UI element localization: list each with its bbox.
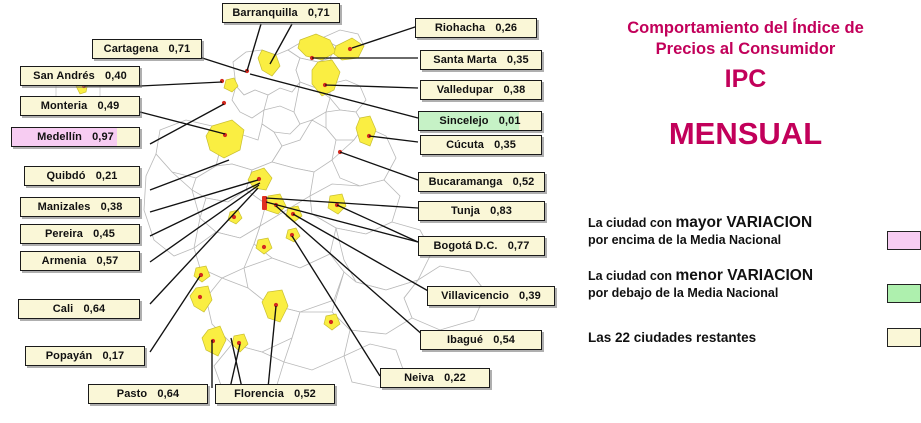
- callout-riohacha[interactable]: Riohacha 0,26: [415, 18, 537, 38]
- legend-highest-line1: La ciudad con mayor VARIACION: [588, 214, 921, 232]
- callout-value: 0,26: [495, 22, 517, 34]
- callout-valledupar[interactable]: Valledupar 0,38: [420, 80, 542, 100]
- callout-neiva[interactable]: Neiva 0,22: [380, 368, 490, 388]
- callout-cucuta[interactable]: Cúcuta 0,35: [420, 135, 542, 155]
- callout-pereira[interactable]: Pereira 0,45: [20, 224, 140, 244]
- title-acronym: IPC: [570, 62, 921, 96]
- callout-label: Pasto: [117, 388, 147, 400]
- callout-villavicencio[interactable]: Villavicencio 0,39: [427, 286, 555, 306]
- legend-lowest-line2: por debajo de la Media Nacional: [588, 285, 921, 302]
- callout-santa-marta[interactable]: Santa Marta 0,35: [420, 50, 542, 70]
- callout-value: 0,71: [169, 43, 191, 55]
- callout-cali[interactable]: Cali 0,64: [18, 299, 140, 319]
- callout-label: Popayán: [46, 350, 93, 362]
- legend-remaining-label: Las 22 ciudades restantes: [588, 328, 921, 347]
- callout-bogota[interactable]: Bogotá D.C. 0,77: [418, 236, 545, 256]
- legend-row-remaining: Las 22 ciudades restantes: [588, 328, 921, 347]
- callout-bucaramanga[interactable]: Bucaramanga 0,52: [418, 172, 545, 192]
- callout-label: Valledupar: [437, 84, 494, 96]
- legend-row-lowest: La ciudad con menor VARIACION por debajo…: [588, 267, 921, 302]
- callout-label: Cali: [53, 303, 74, 315]
- callout-value: 0,39: [519, 290, 541, 302]
- title-block: Comportamiento del Índice de Precios al …: [570, 18, 921, 154]
- callout-value: 0,38: [101, 201, 123, 213]
- ipc-map-infographic: Barranquilla 0,71 Cartagena 0,71 San And…: [0, 0, 921, 423]
- callout-barranquilla[interactable]: Barranquilla 0,71: [222, 3, 340, 23]
- callout-label: Villavicencio: [441, 290, 509, 302]
- legend-highest-line2: por encima de la Media Nacional: [588, 232, 921, 249]
- callout-manizales[interactable]: Manizales 0,38: [20, 197, 140, 217]
- callout-label: Riohacha: [435, 22, 485, 34]
- legend-lowest-emphasis: menor VARIACION: [676, 267, 814, 284]
- callout-value: 0,71: [308, 7, 330, 19]
- legend-lowest-line1: La ciudad con menor VARIACION: [588, 267, 921, 285]
- callout-label: Ibagué: [447, 334, 483, 346]
- callout-value: 0,52: [513, 176, 535, 188]
- callout-value: 0,83: [490, 205, 512, 217]
- title-period: MENSUAL: [570, 114, 921, 154]
- callout-cartagena[interactable]: Cartagena 0,71: [92, 39, 202, 59]
- callout-value: 0,21: [96, 170, 118, 182]
- callout-label: Sincelejo: [439, 115, 488, 127]
- callout-value: 0,40: [105, 70, 127, 82]
- callout-label: Florencia: [234, 388, 284, 400]
- callout-pasto[interactable]: Pasto 0,64: [88, 384, 208, 404]
- title-line-1a: Comportamiento del Índice de: [570, 18, 921, 39]
- legend: La ciudad con mayor VARIACION por encima…: [588, 214, 921, 360]
- callout-popayan[interactable]: Popayán 0,17: [25, 346, 145, 366]
- callout-monteria[interactable]: Monteria 0,49: [20, 96, 140, 116]
- cream-swatch: [887, 328, 921, 347]
- callout-label: Cúcuta: [446, 139, 484, 151]
- callout-label: Neiva: [404, 372, 434, 384]
- callout-tunja[interactable]: Tunja 0,83: [418, 201, 545, 221]
- callout-value: 0,35: [507, 54, 529, 66]
- callout-value: 0,22: [444, 372, 466, 384]
- callout-label: Quibdó: [46, 170, 85, 182]
- callout-value: 0,45: [93, 228, 115, 240]
- callout-value: 0,01: [499, 115, 521, 127]
- legend-row-highest: La ciudad con mayor VARIACION por encima…: [588, 214, 921, 249]
- title-and-legend-panel: Comportamiento del Índice de Precios al …: [570, 0, 921, 423]
- title-line-1: Comportamiento del Índice de Precios al …: [570, 18, 921, 60]
- callout-value: 0,17: [102, 350, 124, 362]
- callout-sincelejo[interactable]: Sincelejo 0,01: [418, 111, 542, 131]
- callout-label: Santa Marta: [433, 54, 496, 66]
- callout-value: 0,38: [503, 84, 525, 96]
- legend-highest-prefix: La ciudad con: [588, 216, 676, 230]
- callout-armenia[interactable]: Armenia 0,57: [20, 251, 140, 271]
- callout-value: 0,54: [493, 334, 515, 346]
- callout-label: Monteria: [41, 100, 88, 112]
- callout-medellin[interactable]: Medellín 0,97: [11, 127, 140, 147]
- callout-value: 0,57: [97, 255, 119, 267]
- callout-quibdo[interactable]: Quibdó 0,21: [24, 166, 140, 186]
- callout-value: 0,64: [157, 388, 179, 400]
- callout-label: Cartagena: [104, 43, 159, 55]
- callout-label: Manizales: [38, 201, 91, 213]
- callout-value: 0,77: [508, 240, 530, 252]
- callout-ibague[interactable]: Ibagué 0,54: [420, 330, 542, 350]
- callout-label: Bucaramanga: [429, 176, 503, 188]
- callout-florencia[interactable]: Florencia 0,52: [215, 384, 335, 404]
- pink-swatch: [887, 231, 921, 250]
- callout-san-andres[interactable]: San Andrés 0,40: [20, 66, 140, 86]
- legend-highest-emphasis: mayor VARIACION: [676, 214, 813, 231]
- green-swatch: [887, 284, 921, 303]
- callout-label: Medellín: [37, 131, 82, 143]
- callout-value: 0,97: [92, 131, 114, 143]
- callout-label: Bogotá D.C.: [433, 240, 497, 252]
- callout-label: Tunja: [451, 205, 480, 217]
- title-line-1b: Precios al Consumidor: [570, 39, 921, 60]
- callout-label: San Andrés: [33, 70, 95, 82]
- legend-lowest-prefix: La ciudad con: [588, 269, 676, 283]
- callout-value: 0,35: [494, 139, 516, 151]
- callout-label: Pereira: [45, 228, 83, 240]
- callout-value: 0,64: [83, 303, 105, 315]
- callout-value: 0,49: [97, 100, 119, 112]
- callout-label: Armenia: [42, 255, 87, 267]
- callout-label: Barranquilla: [232, 7, 297, 19]
- callout-value: 0,52: [294, 388, 316, 400]
